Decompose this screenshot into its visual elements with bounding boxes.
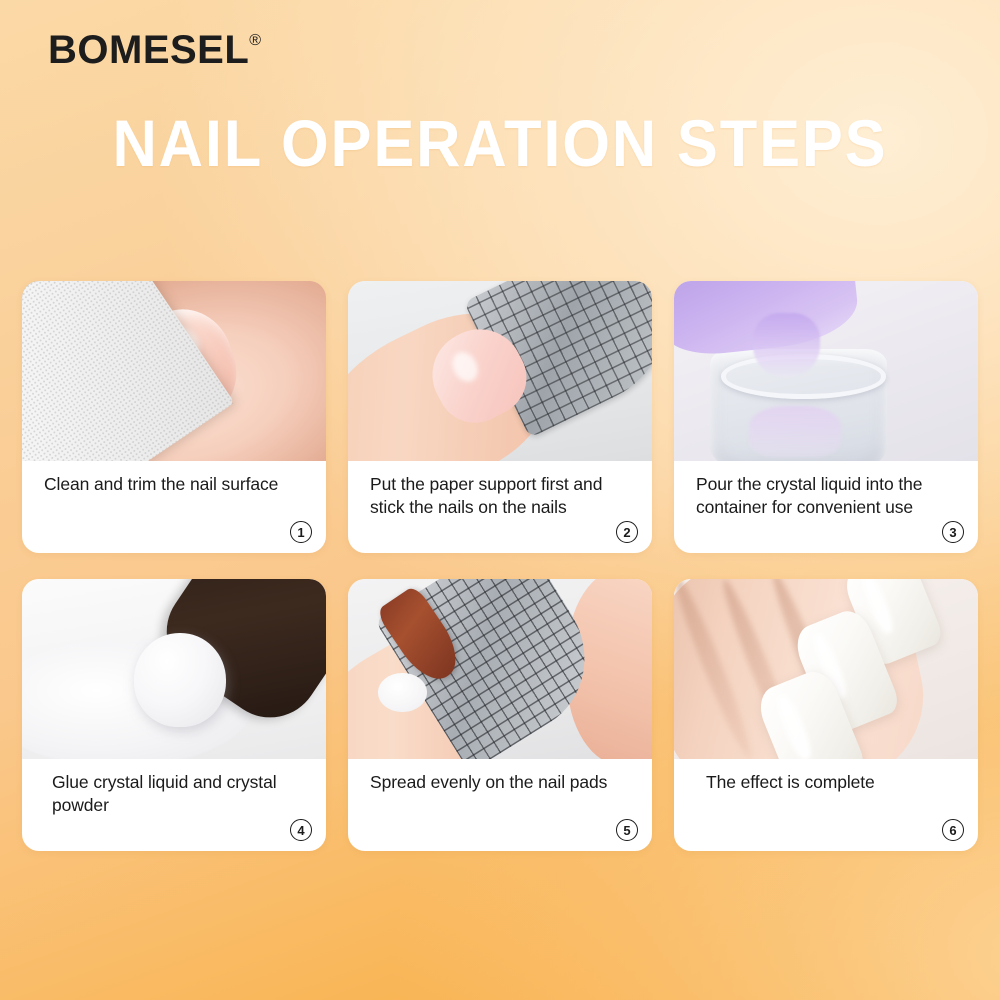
step-card-6: The effect is complete 6	[674, 579, 978, 851]
step-card-3: Pour the crystal liquid into the contain…	[674, 281, 978, 553]
step-caption: Glue crystal liquid and crystal powder	[44, 771, 289, 817]
nail-form-attached-photo	[348, 281, 652, 461]
step-caption: Pour the crystal liquid into the contain…	[696, 473, 941, 519]
step-card-2: Put the paper support first and stick th…	[348, 281, 652, 553]
step-card-4: Glue crystal liquid and crystal powder 4	[22, 579, 326, 851]
step-number-badge: 5	[616, 819, 638, 841]
registered-trademark-icon: ®	[249, 32, 261, 49]
step-number-badge: 1	[290, 521, 312, 543]
step-number-badge: 3	[942, 521, 964, 543]
page-title: NAIL OPERATION STEPS	[35, 110, 965, 176]
liquid-pour-stream-shape	[753, 313, 820, 378]
step-caption: The effect is complete	[696, 771, 941, 794]
step-number-badge: 6	[942, 819, 964, 841]
step-card-3-body: Pour the crystal liquid into the contain…	[674, 461, 978, 553]
crystal-liquid-pour-photo	[674, 281, 978, 461]
step-caption: Clean and trim the nail surface	[44, 473, 289, 496]
steps-grid: Clean and trim the nail surface 1 Put th…	[22, 281, 978, 851]
promo-page: BOMESEL® NAIL OPERATION STEPS Clean and …	[0, 0, 1000, 1000]
step-number-badge: 2	[616, 521, 638, 543]
step-caption: Spread evenly on the nail pads	[370, 771, 615, 794]
step-number-badge: 4	[290, 819, 312, 841]
step-card-1-body: Clean and trim the nail surface 1	[22, 461, 326, 553]
step-card-1: Clean and trim the nail surface 1	[22, 281, 326, 553]
brand-name: BOMESEL	[48, 28, 249, 72]
brush-acrylic-bead-photo	[22, 579, 326, 759]
step-card-5: Spread evenly on the nail pads 5	[348, 579, 652, 851]
brush-spreading-photo	[348, 579, 652, 759]
step-card-5-body: Spread evenly on the nail pads 5	[348, 759, 652, 851]
step-card-4-body: Glue crystal liquid and crystal powder 4	[22, 759, 326, 851]
step-card-2-body: Put the paper support first and stick th…	[348, 461, 652, 553]
brand-logo: BOMESEL®	[48, 30, 261, 70]
finished-white-nails-photo	[674, 579, 978, 759]
step-caption: Put the paper support first and stick th…	[370, 473, 615, 519]
acrylic-bead-shape	[134, 633, 225, 727]
product-dab-shape	[378, 673, 427, 713]
step-card-6-body: The effect is complete 6	[674, 759, 978, 851]
nail-file-on-finger-photo	[22, 281, 326, 461]
